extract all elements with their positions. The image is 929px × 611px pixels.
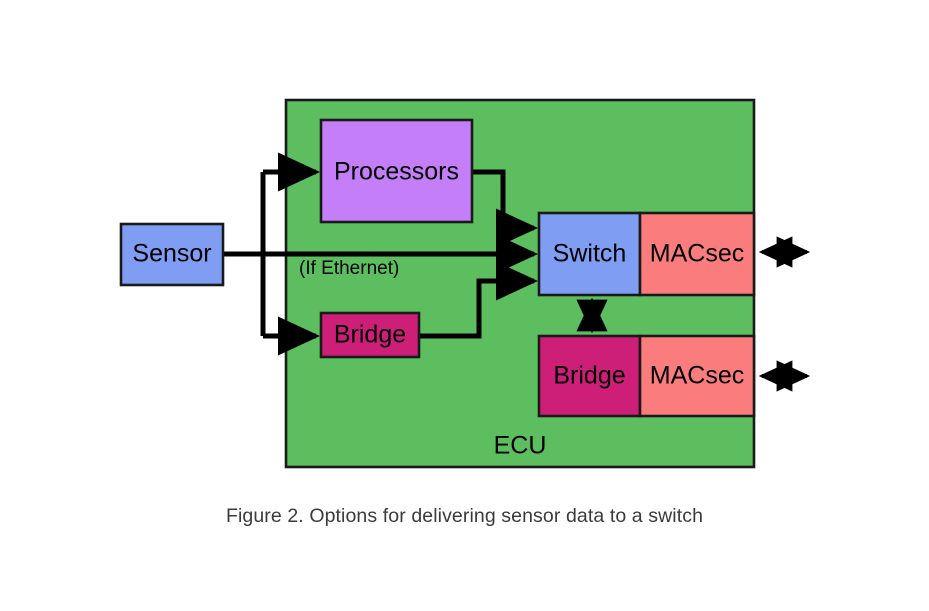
bridge-input-label: Bridge (334, 321, 406, 349)
bridge-macsec-row: Bridge MACsec (539, 336, 754, 416)
bridge-input-block: Bridge (321, 313, 419, 357)
processors-label: Processors (334, 158, 459, 186)
ecu-label: ECU (494, 432, 547, 460)
switch-label: Switch (553, 240, 627, 268)
sensor-label: Sensor (132, 240, 211, 268)
sensor-block: Sensor (121, 224, 223, 285)
macsec-bottom-label: MACsec (650, 362, 744, 390)
figure-caption: Figure 2. Options for delivering sensor … (0, 505, 929, 528)
figure-container: ECU Processors (If Ethernet) (0, 0, 929, 611)
processors-block: Processors (321, 120, 472, 222)
bridge-output-label: Bridge (553, 362, 625, 390)
macsec-top-label: MACsec (650, 240, 744, 268)
switch-macsec-row: Switch MACsec (539, 213, 754, 295)
if-ethernet-note: (If Ethernet) (299, 258, 399, 279)
